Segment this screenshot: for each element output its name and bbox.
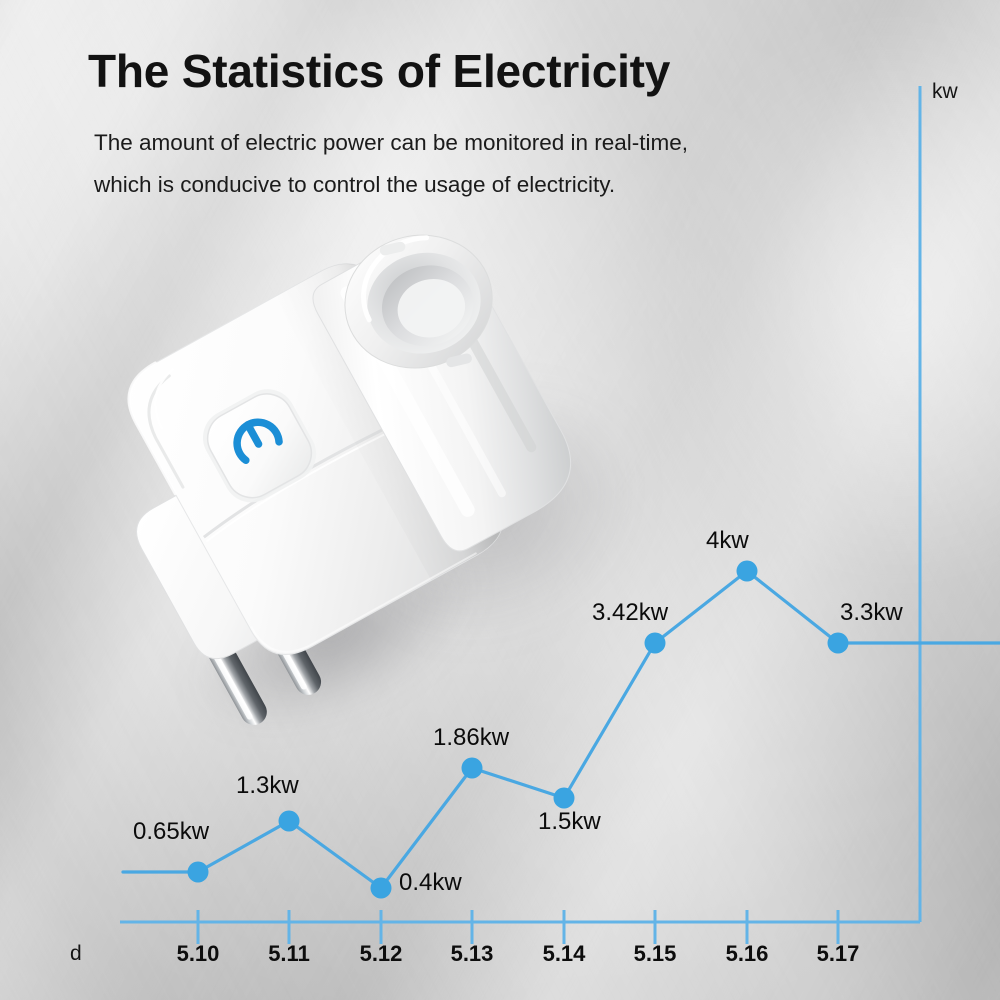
y-axis-unit-label: kw [932, 80, 958, 104]
data-point-6 [737, 561, 758, 582]
data-point-0 [188, 862, 209, 883]
data-point-5 [645, 633, 666, 654]
data-point-4 [554, 788, 575, 809]
point-value-label-4: 1.5kw [538, 808, 601, 836]
x-tick-label-1: 5.11 [268, 941, 310, 967]
x-tick-label-0: 5.10 [177, 941, 220, 967]
x-tick-label-4: 5.14 [543, 941, 586, 967]
x-tick-label-3: 5.13 [451, 941, 494, 967]
data-point-3 [462, 758, 483, 779]
data-points [188, 561, 849, 899]
x-tick-label-5: 5.15 [634, 941, 677, 967]
point-value-label-2: 0.4kw [399, 869, 462, 897]
point-value-label-3: 1.86kw [433, 724, 509, 752]
x-tick-label-7: 5.17 [817, 941, 860, 967]
x-axis-unit-label: d [70, 942, 82, 966]
poster-canvas: The Statistics of Electricity The amount… [0, 0, 1000, 1000]
data-point-7 [828, 633, 849, 654]
x-tick-label-6: 5.16 [726, 941, 769, 967]
point-value-label-5: 3.42kw [592, 599, 668, 627]
point-value-label-1: 1.3kw [236, 772, 299, 800]
x-axis-ticks [198, 910, 838, 944]
point-value-label-7: 3.3kw [840, 599, 903, 627]
data-point-1 [279, 811, 300, 832]
point-value-label-0: 0.65kw [133, 818, 209, 846]
data-point-2 [371, 878, 392, 899]
point-value-label-6: 4kw [706, 527, 749, 555]
electricity-line-chart [0, 0, 1000, 1000]
x-tick-label-2: 5.12 [360, 941, 403, 967]
